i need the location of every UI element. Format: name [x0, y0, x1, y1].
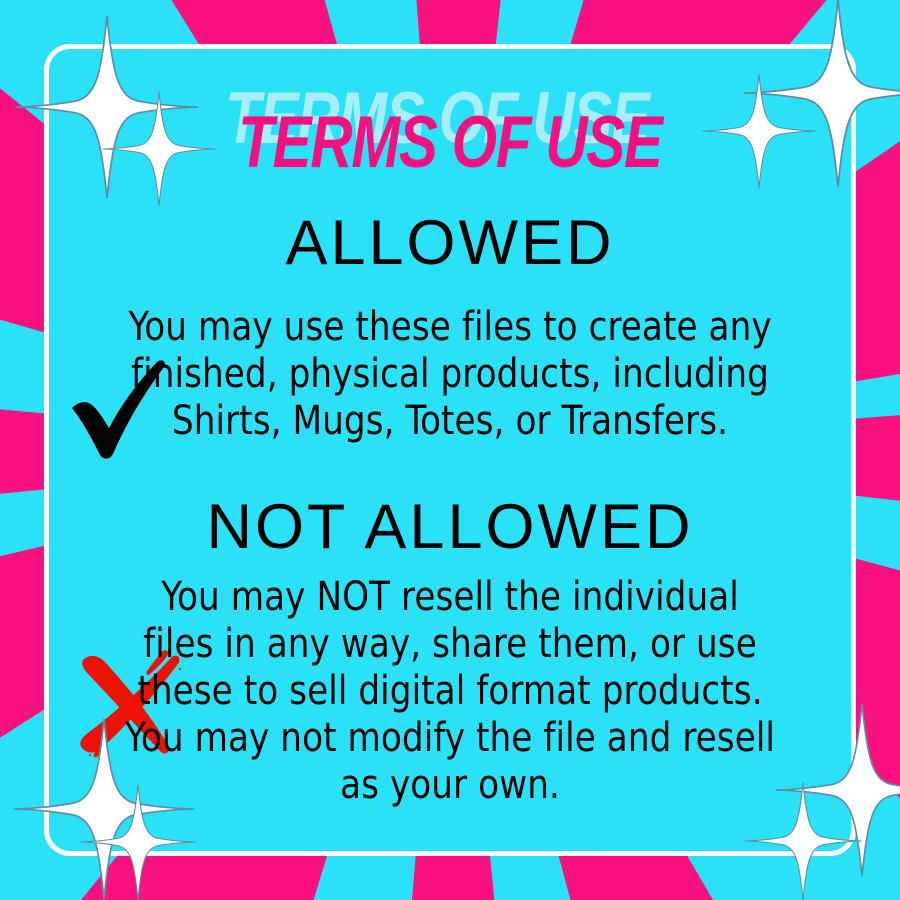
paragraph-not-allowed-line: as your own. [64, 762, 835, 809]
paragraph-allowed-line: Shirts, Mugs, Totes, or Transfers. [64, 398, 835, 445]
heading-allowed: ALLOWED [44, 212, 856, 275]
paragraph-allowed-line: finished, physical products, including [64, 351, 835, 398]
paragraph-allowed-line: You may use these files to create any [64, 304, 835, 351]
paragraph-allowed: You may use these files to create any fi… [64, 304, 835, 445]
paragraph-not-allowed-line: these to sell digital format products. [64, 668, 835, 715]
heading-not-allowed: NOT ALLOWED [44, 496, 856, 559]
paragraph-not-allowed-line: You may not modify the file and resell [64, 715, 835, 762]
poster-title-text: TERMS OF USE [125, 106, 775, 179]
paragraph-not-allowed-line: You may NOT resell the individual [64, 574, 835, 621]
paragraph-not-allowed: You may NOT resell the individual files … [64, 574, 835, 809]
poster-title: TERMS OF USE TERMS OF USE [44, 70, 856, 180]
terms-of-use-poster: TERMS OF USE TERMS OF USE ALLOWED You ma… [0, 0, 900, 900]
paragraph-not-allowed-line: files in any way, share them, or use [64, 621, 835, 668]
